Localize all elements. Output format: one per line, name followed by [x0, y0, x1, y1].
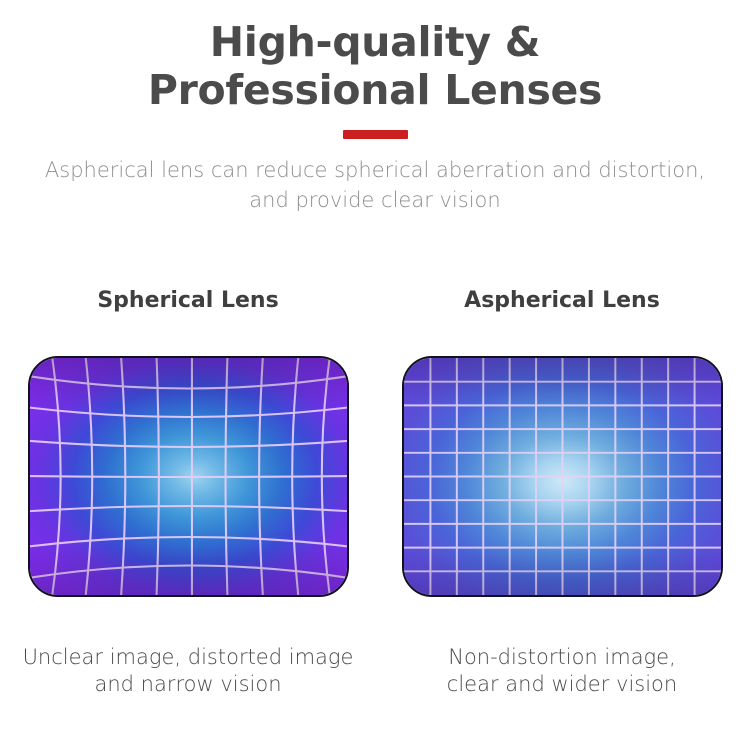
aspherical-lens-caption: Non-distortion image, clear and wider vi… [389, 644, 735, 698]
spherical-lens-image [28, 356, 349, 597]
infographic-page: High-quality & Professional Lenses Asphe… [0, 0, 750, 750]
spherical-caption-line-2: and narrow vision [15, 671, 361, 698]
page-title: High-quality & Professional Lenses [0, 18, 750, 114]
aspherical-caption-line-1: Non-distortion image, [389, 644, 735, 671]
spherical-lens-image-wrap [28, 356, 349, 597]
aspherical-lens-image-wrap [402, 356, 723, 597]
spherical-caption-line-1: Unclear image, distorted image [15, 644, 361, 671]
aspherical-lens-image [402, 356, 723, 597]
comparison-column-aspherical: Aspherical Lens [389, 288, 735, 597]
aspherical-caption-line-2: clear and wider vision [389, 671, 735, 698]
lens-comparison: Spherical Lens [0, 288, 750, 708]
aspherical-grid-illustration [404, 358, 721, 595]
accent-bar-divider [343, 130, 408, 139]
page-title-line-2: Professional Lenses [0, 66, 750, 114]
page-subtitle-line-1: Aspherical lens can reduce spherical abe… [0, 155, 750, 185]
spherical-grid-illustration [30, 358, 347, 595]
aspherical-lens-heading: Aspherical Lens [389, 288, 735, 318]
page-subtitle: Aspherical lens can reduce spherical abe… [0, 155, 750, 215]
comparison-column-spherical: Spherical Lens [15, 288, 361, 597]
spherical-lens-heading: Spherical Lens [15, 288, 361, 318]
page-title-line-1: High-quality & [0, 18, 750, 66]
header: High-quality & Professional Lenses [0, 18, 750, 139]
spherical-lens-caption: Unclear image, distorted image and narro… [15, 644, 361, 698]
page-subtitle-line-2: and provide clear vision [0, 185, 750, 215]
